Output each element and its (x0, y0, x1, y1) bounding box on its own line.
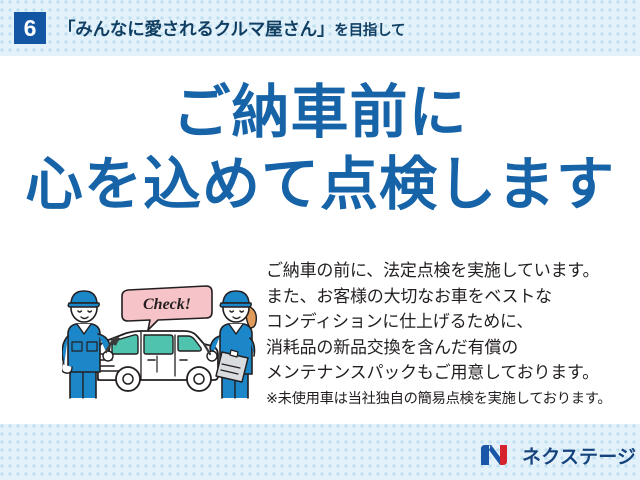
body-line-1: ご納車の前に、法定点検を実施しています。 (266, 261, 599, 280)
headline-line-1: ご納車前に (0, 84, 640, 142)
body-disclaimer: ※未使用車は当社独自の簡易点検を実施しております。 (266, 388, 626, 411)
headline: ご納車前に 心を込めて点検します (0, 84, 640, 214)
headline-line-2: 心を込めて点検します (0, 156, 640, 214)
n-logo-icon (480, 444, 514, 466)
body-line-4: 消耗品の新品交換を含んだ有償の (266, 338, 518, 357)
header-title-suffix: を目指して (334, 23, 405, 39)
header: 6 「みんなに愛されるクルマ屋さん」を目指して (0, 0, 640, 56)
body-line-5: メンテナンスパックもご用意しております。 (266, 363, 599, 382)
mechanics-illustration: Check! (62, 272, 262, 402)
body-copy: ご納車の前に、法定点検を実施しています。 また、お客様の大切なお車をベストな コ… (266, 258, 626, 411)
mechanic-left (62, 291, 120, 398)
speech-bubble-label: Check! (143, 296, 191, 313)
body-line-3: コンディションに仕上げるために、 (266, 312, 533, 331)
step-number-badge: 6 (14, 12, 46, 44)
body-line-2: また、お客様の大切なお車をベストな (266, 287, 552, 306)
brand-logo: ネクステージ (480, 443, 636, 467)
header-title-main: 「みんなに愛されるクルマ屋さん」 (58, 19, 334, 39)
brand-name: ネクステージ (522, 442, 636, 469)
header-title: 「みんなに愛されるクルマ屋さん」を目指して (58, 16, 405, 41)
advertisement-page: 6 「みんなに愛されるクルマ屋さん」を目指して ご納車前に 心を込めて点検します (0, 0, 640, 480)
